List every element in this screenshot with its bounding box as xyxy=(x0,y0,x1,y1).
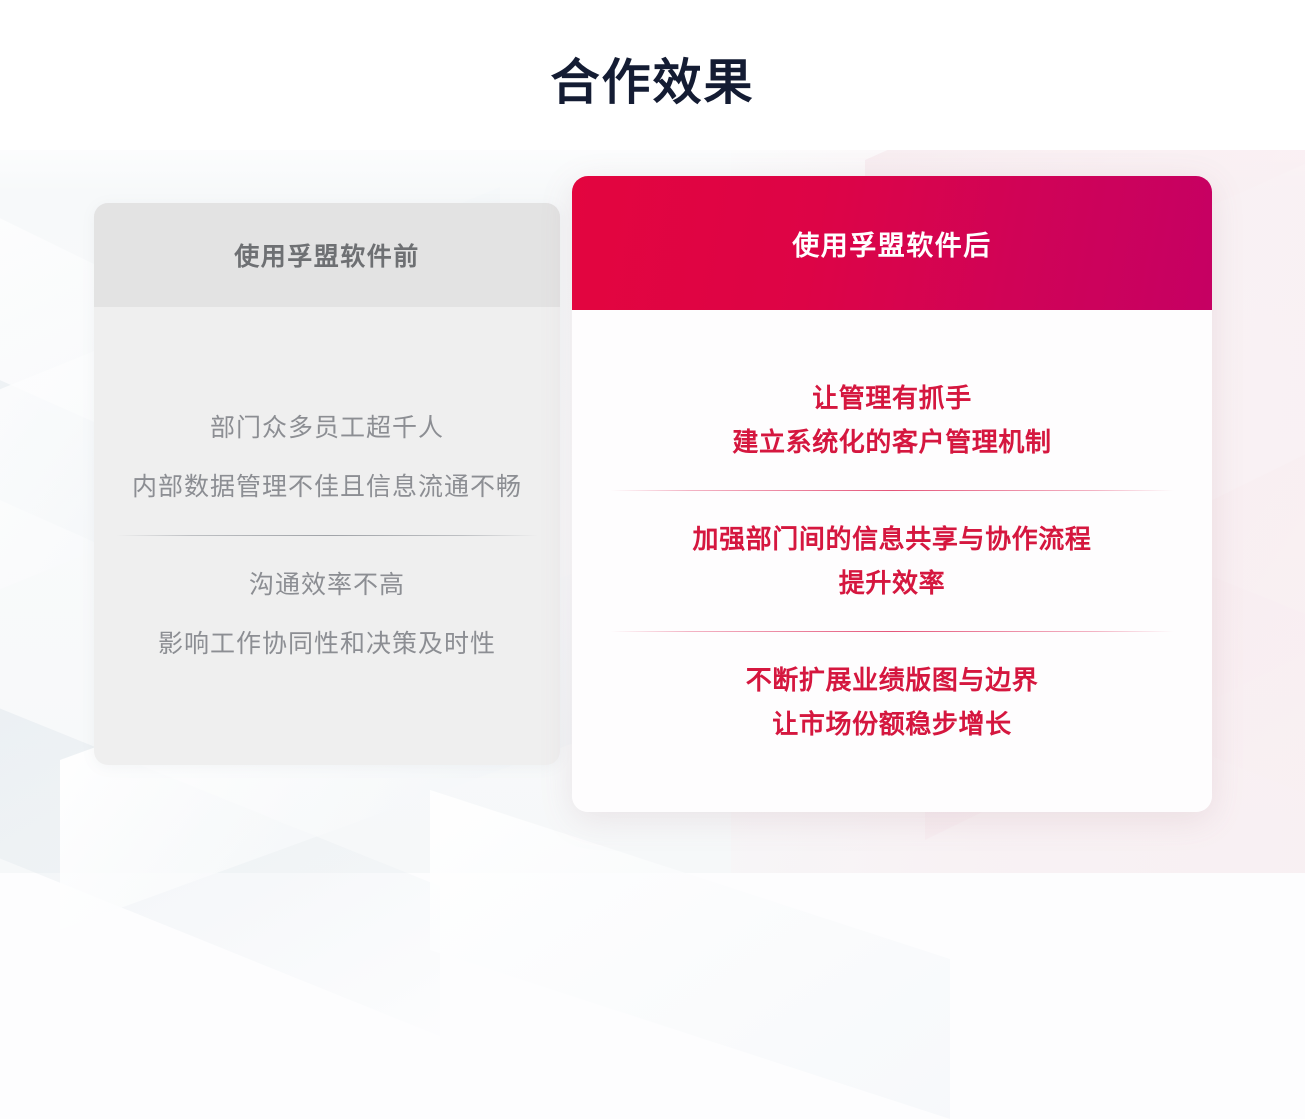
after-card-title: 使用孚盟软件后 xyxy=(792,224,992,263)
comparison-cards: 使用孚盟软件前 部门众多员工超千人 内部数据管理不佳且信息流通不畅 沟通效率不高… xyxy=(0,0,1305,873)
after-block-3: 不断扩展业绩版图与边界 让市场份额稳步增长 xyxy=(600,658,1184,746)
after-block-2-line-1: 加强部门间的信息共享与协作流程 xyxy=(600,517,1184,561)
after-block-1-line-2: 建立系统化的客户管理机制 xyxy=(600,420,1184,464)
after-card-body: 让管理有抓手 建立系统化的客户管理机制 加强部门间的信息共享与协作流程 提升效率… xyxy=(572,310,1212,812)
before-block-2-line-1: 沟通效率不高 xyxy=(112,556,542,615)
after-card-header: 使用孚盟软件后 xyxy=(572,176,1212,310)
before-block-1: 部门众多员工超千人 内部数据管理不佳且信息流通不畅 xyxy=(112,399,542,517)
before-card-title: 使用孚盟软件前 xyxy=(234,237,420,273)
after-block-1: 让管理有抓手 建立系统化的客户管理机制 xyxy=(600,376,1184,464)
after-block-2: 加强部门间的信息共享与协作流程 提升效率 xyxy=(600,517,1184,605)
after-block-3-line-1: 不断扩展业绩版图与边界 xyxy=(600,658,1184,702)
after-divider-1 xyxy=(610,490,1174,491)
page-title: 合作效果 xyxy=(0,52,1305,114)
after-card: 使用孚盟软件后 让管理有抓手 建立系统化的客户管理机制 加强部门间的信息共享与协… xyxy=(572,176,1212,812)
before-card-body: 部门众多员工超千人 内部数据管理不佳且信息流通不畅 沟通效率不高 影响工作协同性… xyxy=(94,307,560,765)
after-block-2-line-2: 提升效率 xyxy=(600,561,1184,605)
after-block-3-line-2: 让市场份额稳步增长 xyxy=(600,702,1184,746)
before-card-header: 使用孚盟软件前 xyxy=(94,203,560,307)
before-block-1-line-2: 内部数据管理不佳且信息流通不畅 xyxy=(112,458,542,517)
before-block-2-line-2: 影响工作协同性和决策及时性 xyxy=(112,615,542,674)
before-block-2: 沟通效率不高 影响工作协同性和决策及时性 xyxy=(112,556,542,674)
before-block-1-line-1: 部门众多员工超千人 xyxy=(112,399,542,458)
before-divider-1 xyxy=(116,535,538,536)
after-block-1-line-1: 让管理有抓手 xyxy=(600,376,1184,420)
after-divider-2 xyxy=(610,631,1174,632)
before-card: 使用孚盟软件前 部门众多员工超千人 内部数据管理不佳且信息流通不畅 沟通效率不高… xyxy=(94,203,560,765)
